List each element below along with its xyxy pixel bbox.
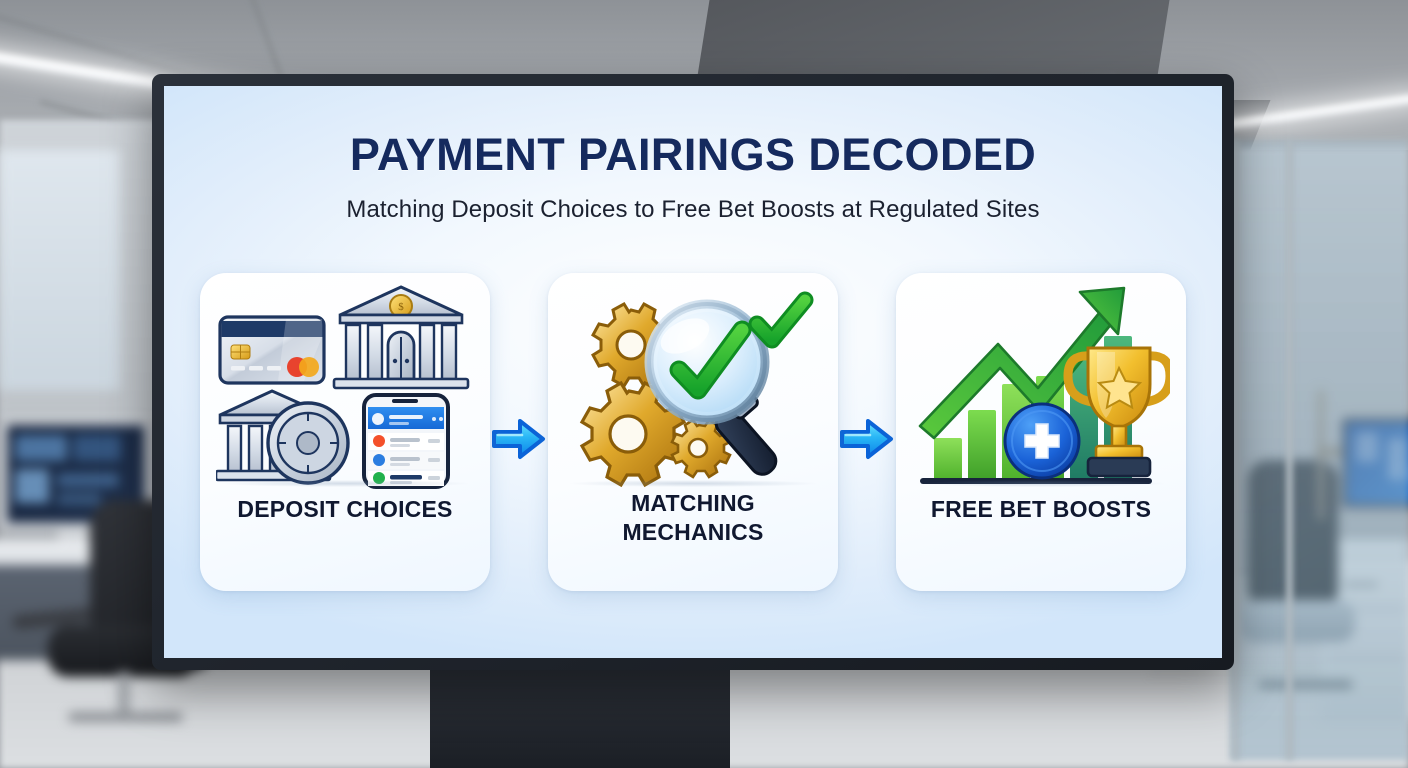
chair-base <box>68 712 183 722</box>
presentation-slide: PAYMENT PAIRINGS DECODED Matching Deposi… <box>164 86 1222 658</box>
card-artwork-boosts <box>896 273 1186 495</box>
bank-building-icon: $ <box>334 287 468 388</box>
card-label-deposit-choices: DEPOSIT CHOICES <box>227 495 462 524</box>
window-pane <box>0 150 120 390</box>
card-label-matching-mechanics: MATCHING MECHANICS <box>612 489 773 547</box>
matching-icons-group <box>567 278 819 490</box>
card-label-free-bet-boosts: FREE BET BOOSTS <box>921 495 1161 524</box>
glass-partition <box>1230 140 1408 760</box>
right-arrow-icon <box>840 416 894 462</box>
card-deposit-choices[interactable]: $ <box>200 273 490 591</box>
deposit-icons-group: $ <box>216 279 474 489</box>
artwork-shadow <box>222 480 468 487</box>
card-artwork-deposit: $ <box>200 273 490 495</box>
card-row: $ <box>200 273 1186 591</box>
slide-subtitle: Matching Deposit Choices to Free Bet Boo… <box>164 196 1222 224</box>
slide-title: PAYMENT PAIRINGS DECODED <box>164 129 1222 181</box>
display-stand <box>430 668 730 768</box>
glass-mullion <box>1286 140 1293 760</box>
right-arrow-icon <box>492 416 546 462</box>
card-label-line-2: MECHANICS <box>622 519 763 545</box>
green-check-icon <box>757 300 805 340</box>
svg-text:$: $ <box>398 301 404 313</box>
boosts-icons-group <box>912 278 1170 490</box>
display-screen: PAYMENT PAIRINGS DECODED Matching Deposi… <box>164 86 1222 658</box>
mobile-banking-icon <box>364 395 448 487</box>
connector-arrow-1 <box>490 273 548 591</box>
plus-badge-icon <box>1005 404 1079 478</box>
artwork-shadow <box>918 480 1164 487</box>
artwork-shadow <box>570 480 816 487</box>
card-free-bet-boosts[interactable]: FREE BET BOOSTS <box>896 273 1186 591</box>
card-artwork-matching <box>548 273 838 495</box>
bank-vault-icon <box>216 391 348 483</box>
card-matching-mechanics[interactable]: MATCHING MECHANICS <box>548 273 838 591</box>
connector-arrow-2 <box>838 273 896 591</box>
credit-card-icon <box>220 317 324 383</box>
